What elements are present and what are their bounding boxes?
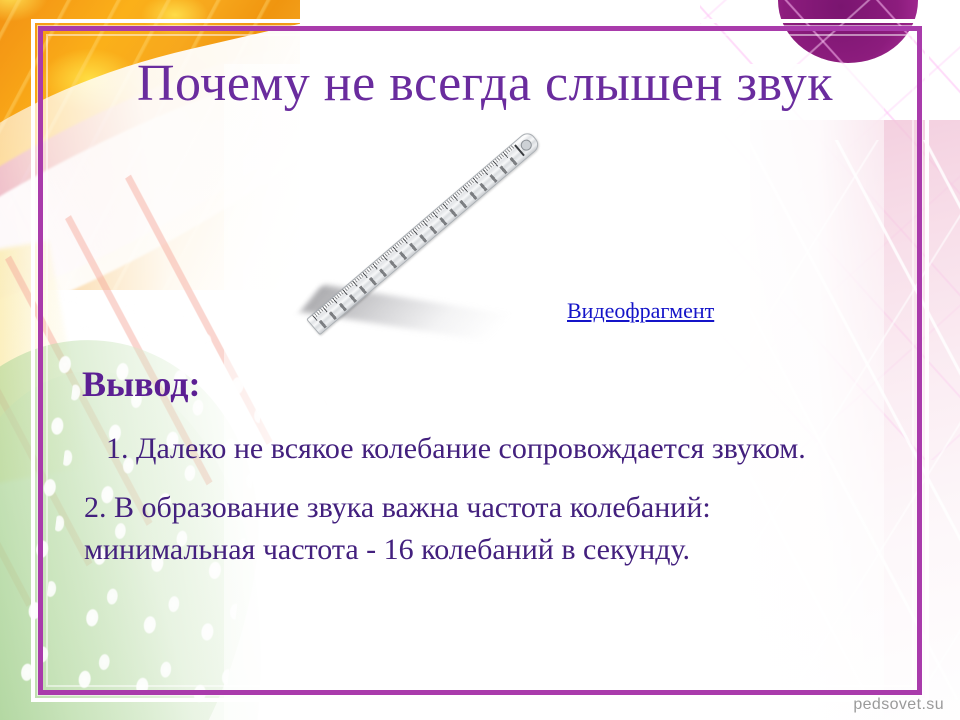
presentation-slide: Почему не всегда слышен звук Видеофрагме… [0,0,960,720]
list-item: 1. Далеко не всякое колебание сопровожда… [84,428,884,471]
conclusion-list: 1. Далеко не всякое колебание сопровожда… [84,428,884,572]
video-fragment-link[interactable]: Видеофрагмент [567,298,714,324]
list-item: 2. В образование звука важна частота кол… [84,487,884,572]
page-title: Почему не всегда слышен звук [70,57,900,112]
watermark: pedsovet.su [853,696,944,714]
conclusion-heading: Вывод: [82,363,200,405]
ruler-illustration [300,150,550,340]
slide-content: Почему не всегда слышен звук Видеофрагме… [0,0,960,720]
ruler-minor-ticks [312,144,515,318]
